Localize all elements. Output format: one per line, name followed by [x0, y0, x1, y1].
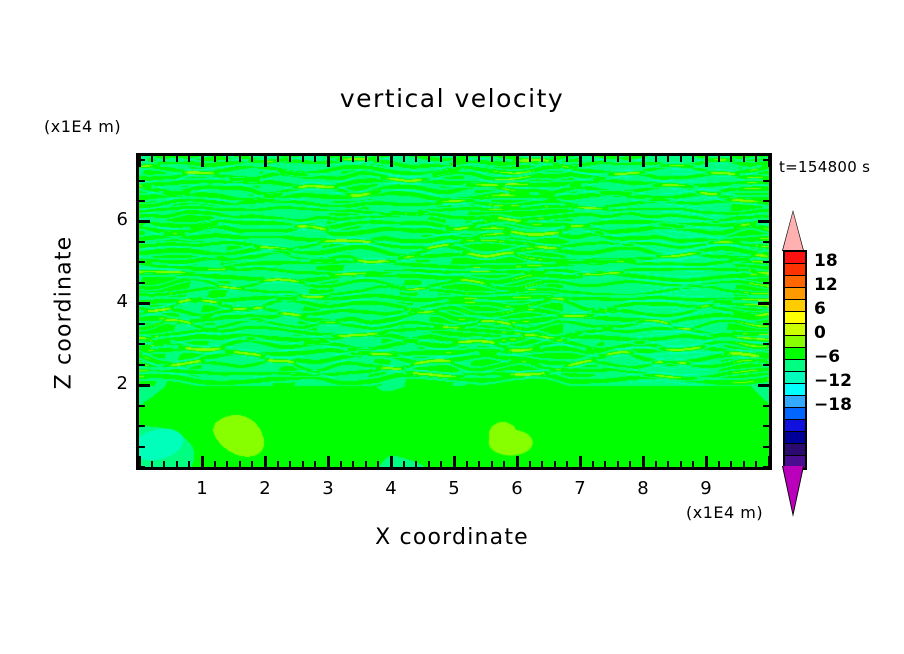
x-minor-tick-top [692, 156, 694, 162]
y-minor-tick-right [763, 241, 769, 243]
x-minor-tick-top [755, 156, 757, 162]
colorbar-band [785, 264, 805, 276]
x-major-tick [327, 456, 330, 467]
y-minor-tick [139, 241, 145, 243]
x-minor-tick [629, 461, 631, 467]
x-minor-tick-top [403, 156, 405, 162]
x-tick-label: 8 [628, 478, 658, 499]
colorbar-top-cap [783, 212, 803, 250]
x-minor-tick-top [566, 156, 568, 162]
y-minor-tick [139, 446, 145, 448]
x-minor-tick-top [340, 156, 342, 162]
y-minor-tick [139, 261, 145, 263]
y-major-tick-right [758, 220, 769, 223]
y-minor-tick-right [763, 466, 769, 468]
x-minor-tick [226, 461, 228, 467]
x-minor-tick-top [251, 156, 253, 162]
x-minor-tick [440, 461, 442, 467]
y-tick-label: 4 [98, 291, 128, 312]
x-minor-tick-top [239, 156, 241, 162]
x-tick-label: 7 [565, 478, 595, 499]
y-minor-tick-right [763, 180, 769, 182]
x-minor-tick [214, 461, 216, 467]
x-minor-tick [277, 461, 279, 467]
x-minor-tick-top [352, 156, 354, 162]
x-minor-tick [755, 461, 757, 467]
colorbar-tick-label: −6 [814, 347, 840, 367]
x-minor-tick-top [478, 156, 480, 162]
y-minor-tick-right [763, 343, 769, 345]
y-tick-label: 6 [98, 209, 128, 230]
x-minor-tick-top [440, 156, 442, 162]
x-major-tick [705, 456, 708, 467]
colorbar-tick-label: 0 [814, 323, 826, 343]
x-minor-tick [692, 461, 694, 467]
x-minor-tick [718, 461, 720, 467]
colorbar-band [785, 360, 805, 372]
x-minor-tick [655, 461, 657, 467]
x-minor-tick [466, 461, 468, 467]
colorbar-tick-label: 18 [814, 251, 838, 271]
x-minor-tick [541, 461, 543, 467]
x-minor-tick [415, 461, 417, 467]
x-major-tick-top [579, 156, 582, 167]
x-minor-tick [554, 461, 556, 467]
colorbar-band [785, 384, 805, 396]
x-tick-label: 4 [376, 478, 406, 499]
colorbar-tick-label: 6 [814, 299, 826, 319]
x-major-tick-top [138, 156, 141, 167]
y-minor-tick [139, 425, 145, 427]
x-minor-tick-top [415, 156, 417, 162]
x-minor-tick-top [743, 156, 745, 162]
x-minor-tick-top [730, 156, 732, 162]
y-minor-tick [139, 159, 145, 161]
page-title: vertical velocity [0, 84, 904, 113]
colorbar-bands [783, 250, 807, 470]
x-major-tick-top [327, 156, 330, 167]
x-minor-tick-top [176, 156, 178, 162]
colorbar-band [785, 408, 805, 420]
x-minor-tick-top [151, 156, 153, 162]
x-major-tick-top [201, 156, 204, 167]
x-minor-tick-top [629, 156, 631, 162]
colorbar-band [785, 312, 805, 324]
x-tick-label: 6 [502, 478, 532, 499]
x-major-tick [264, 456, 267, 467]
x-minor-tick-top [466, 156, 468, 162]
x-minor-tick-top [617, 156, 619, 162]
x-axis-units-label: (x1E4 m) [686, 503, 763, 522]
x-minor-tick-top [163, 156, 165, 162]
x-minor-tick-top [314, 156, 316, 162]
y-major-tick [139, 220, 150, 223]
x-minor-tick [503, 461, 505, 467]
y-minor-tick [139, 180, 145, 182]
x-minor-tick [163, 461, 165, 467]
x-minor-tick [188, 461, 190, 467]
x-minor-tick [680, 461, 682, 467]
y-minor-tick [139, 364, 145, 366]
colorbar-tick-label: −18 [814, 395, 852, 415]
x-minor-tick [377, 461, 379, 467]
x-minor-tick [730, 461, 732, 467]
colorbar-band [785, 252, 805, 264]
x-major-tick-top [642, 156, 645, 167]
x-minor-tick-top [604, 156, 606, 162]
x-minor-tick [592, 461, 594, 467]
y-minor-tick [139, 282, 145, 284]
x-major-tick [453, 456, 456, 467]
y-minor-tick [139, 200, 145, 202]
x-minor-tick [617, 461, 619, 467]
colorbar-band [785, 432, 805, 444]
y-minor-tick-right [763, 200, 769, 202]
x-tick-label: 5 [439, 478, 469, 499]
y-tick-label: 2 [98, 373, 128, 394]
x-major-tick [201, 456, 204, 467]
x-minor-tick-top [655, 156, 657, 162]
x-minor-tick-top [592, 156, 594, 162]
x-minor-tick [352, 461, 354, 467]
x-minor-tick-top [718, 156, 720, 162]
x-minor-tick [667, 461, 669, 467]
x-minor-tick [491, 461, 493, 467]
colorbar-band [785, 324, 805, 336]
x-minor-tick-top [667, 156, 669, 162]
x-minor-tick [365, 461, 367, 467]
x-major-tick-top [453, 156, 456, 167]
y-major-tick [139, 302, 150, 305]
x-minor-tick-top [680, 156, 682, 162]
x-minor-tick-top [503, 156, 505, 162]
x-minor-tick [151, 461, 153, 467]
y-minor-tick-right [763, 282, 769, 284]
x-minor-tick [289, 461, 291, 467]
x-axis-title: X coordinate [0, 525, 904, 550]
y-minor-tick [139, 405, 145, 407]
x-minor-tick [176, 461, 178, 467]
colorbar-band [785, 348, 805, 360]
velocity-field-canvas [139, 156, 769, 467]
colorbar-band [785, 372, 805, 384]
x-minor-tick-top [226, 156, 228, 162]
x-major-tick [642, 456, 645, 467]
y-major-tick-right [758, 302, 769, 305]
x-major-tick-top [768, 156, 771, 167]
x-tick-label: 1 [187, 478, 217, 499]
y-minor-tick [139, 466, 145, 468]
x-minor-tick [478, 461, 480, 467]
x-minor-tick-top [541, 156, 543, 162]
x-minor-tick [529, 461, 531, 467]
y-minor-tick-right [763, 159, 769, 161]
x-major-tick [516, 456, 519, 467]
y-axis-title: Z coordinate [52, 213, 77, 413]
y-axis-units-label: (x1E4 m) [44, 117, 121, 136]
time-annotation: t=154800 s [779, 158, 870, 176]
x-minor-tick [428, 461, 430, 467]
x-minor-tick-top [188, 156, 190, 162]
x-major-tick [579, 456, 582, 467]
x-minor-tick [743, 461, 745, 467]
y-minor-tick [139, 343, 145, 345]
y-major-tick-right [758, 384, 769, 387]
x-minor-tick [340, 461, 342, 467]
x-minor-tick-top [428, 156, 430, 162]
colorbar-band [785, 336, 805, 348]
x-minor-tick [566, 461, 568, 467]
x-minor-tick-top [302, 156, 304, 162]
x-minor-tick-top [214, 156, 216, 162]
x-major-tick-top [705, 156, 708, 167]
contour-plot-area [136, 153, 772, 470]
colorbar-band [785, 444, 805, 456]
x-minor-tick [251, 461, 253, 467]
colorbar-band [785, 420, 805, 432]
x-minor-tick [604, 461, 606, 467]
x-minor-tick-top [377, 156, 379, 162]
x-minor-tick-top [365, 156, 367, 162]
x-minor-tick [314, 461, 316, 467]
colorbar-band [785, 276, 805, 288]
y-minor-tick-right [763, 405, 769, 407]
colorbar-band [785, 288, 805, 300]
y-minor-tick-right [763, 425, 769, 427]
x-minor-tick [239, 461, 241, 467]
x-major-tick-top [516, 156, 519, 167]
y-minor-tick-right [763, 323, 769, 325]
x-tick-label: 3 [313, 478, 343, 499]
x-minor-tick-top [529, 156, 531, 162]
x-major-tick-top [390, 156, 393, 167]
y-minor-tick [139, 323, 145, 325]
colorbar-bottom-cap [783, 466, 803, 513]
x-minor-tick [403, 461, 405, 467]
x-tick-label: 2 [250, 478, 280, 499]
colorbar-tick-label: −12 [814, 371, 852, 391]
x-minor-tick-top [289, 156, 291, 162]
y-major-tick [139, 384, 150, 387]
y-minor-tick-right [763, 446, 769, 448]
colorbar-band [785, 396, 805, 408]
x-major-tick-top [264, 156, 267, 167]
y-minor-tick-right [763, 364, 769, 366]
x-minor-tick [302, 461, 304, 467]
x-minor-tick-top [277, 156, 279, 162]
colorbar-band [785, 300, 805, 312]
y-minor-tick-right [763, 261, 769, 263]
x-tick-label: 9 [691, 478, 721, 499]
x-minor-tick-top [491, 156, 493, 162]
colorbar-tick-label: 12 [814, 275, 838, 295]
x-major-tick [390, 456, 393, 467]
x-minor-tick-top [554, 156, 556, 162]
